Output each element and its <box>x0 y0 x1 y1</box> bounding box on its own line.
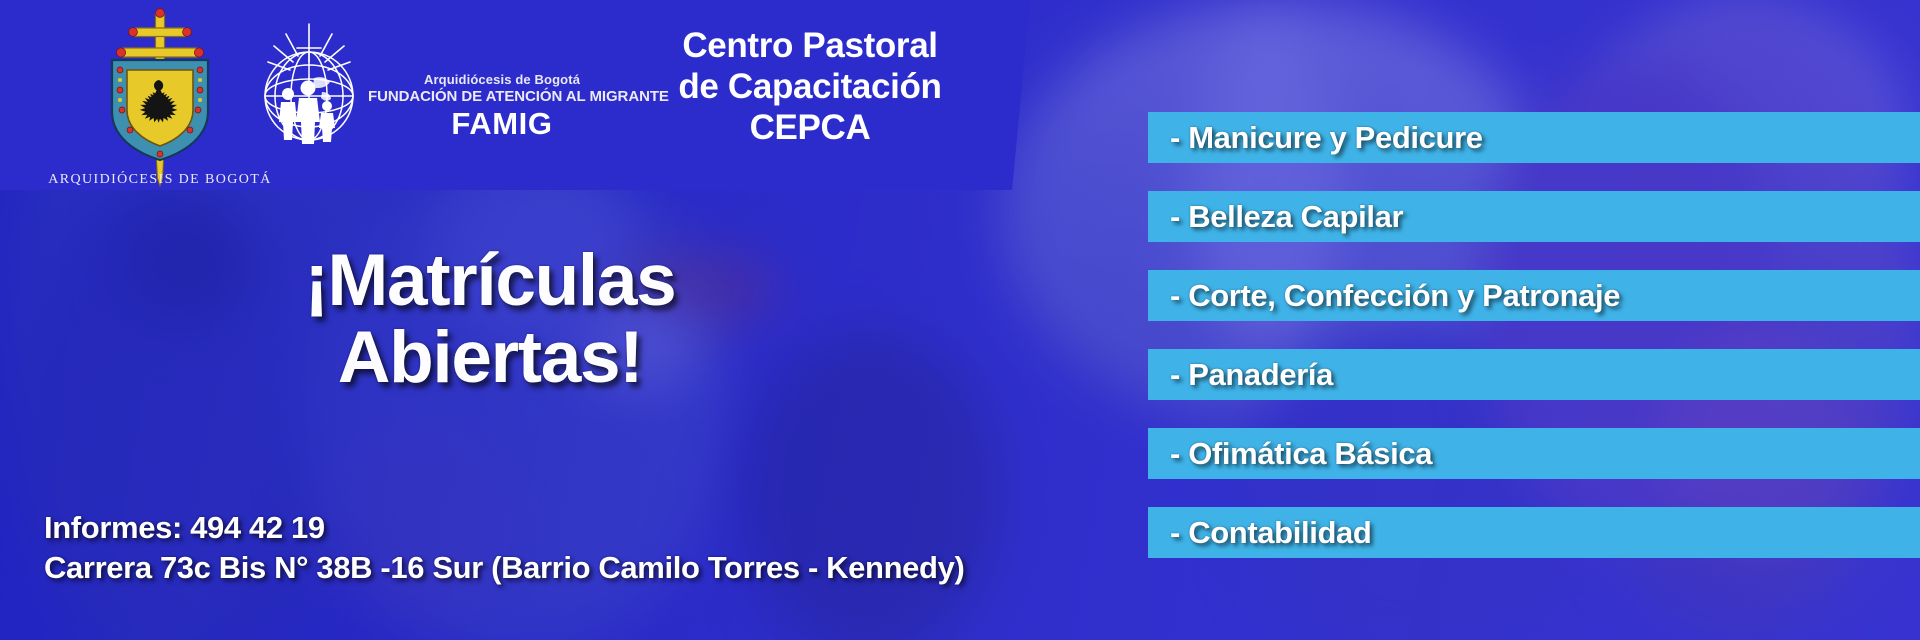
course-item: - Panadería <box>1148 349 1920 400</box>
course-label: - Manicure y Pedicure <box>1170 120 1483 156</box>
cepca-title-line-3: CEPCA <box>650 108 970 149</box>
headline-line-1: ¡Matrículas <box>160 242 820 319</box>
cepca-title-line-2: de Capacitación <box>650 67 970 108</box>
contact-address: Carrera 73c Bis N° 38B -16 Sur (Barrio C… <box>44 548 964 588</box>
course-item: - Corte, Confección y Patronaje <box>1148 270 1920 321</box>
course-item: - Manicure y Pedicure <box>1148 112 1920 163</box>
headline: ¡Matrículas Abiertas! <box>160 242 820 397</box>
course-list: - Manicure y Pedicure - Belleza Capilar … <box>1148 112 1920 586</box>
archdiocese-logo: ARQUIDIÓCESIS DE BOGOTÁ <box>45 6 275 190</box>
famig-wordmark: Arquidiócesis de Bogotá FUNDACIÓN DE ATE… <box>368 72 636 142</box>
cepca-title-line-1: Centro Pastoral <box>650 26 970 67</box>
headline-line-2: Abiertas! <box>160 319 820 396</box>
cepca-title: Centro Pastoral de Capacitación CEPCA <box>650 26 970 149</box>
course-label: - Corte, Confección y Patronaje <box>1170 278 1620 314</box>
contact-phone: Informes: 494 42 19 <box>44 508 964 548</box>
header-band-content: ARQUIDIÓCESIS DE BOGOTÁ <box>0 0 1030 190</box>
course-item: - Belleza Capilar <box>1148 191 1920 242</box>
course-label: - Contabilidad <box>1170 515 1371 551</box>
contact-block: Informes: 494 42 19 Carrera 73c Bis N° 3… <box>44 508 964 589</box>
course-item: - Contabilidad <box>1148 507 1920 558</box>
famig-line-2: FUNDACIÓN DE ATENCIÓN AL MIGRANTE <box>368 88 636 105</box>
famig-globe-icon <box>248 22 370 144</box>
course-label: - Ofimática Básica <box>1170 436 1432 472</box>
cepca-enrollment-banner: ARQUIDIÓCESIS DE BOGOTÁ <box>0 0 1920 640</box>
famig-acronym: FAMIG <box>368 106 636 142</box>
course-label: - Panadería <box>1170 357 1333 393</box>
archdiocese-caption: ARQUIDIÓCESIS DE BOGOTÁ <box>45 172 275 188</box>
course-item: - Ofimática Básica <box>1148 428 1920 479</box>
course-label: - Belleza Capilar <box>1170 199 1403 235</box>
famig-line-1: Arquidiócesis de Bogotá <box>368 72 636 87</box>
famig-logo: Arquidiócesis de Bogotá FUNDACIÓN DE ATE… <box>248 14 638 174</box>
coat-of-arms-icon <box>45 6 275 190</box>
